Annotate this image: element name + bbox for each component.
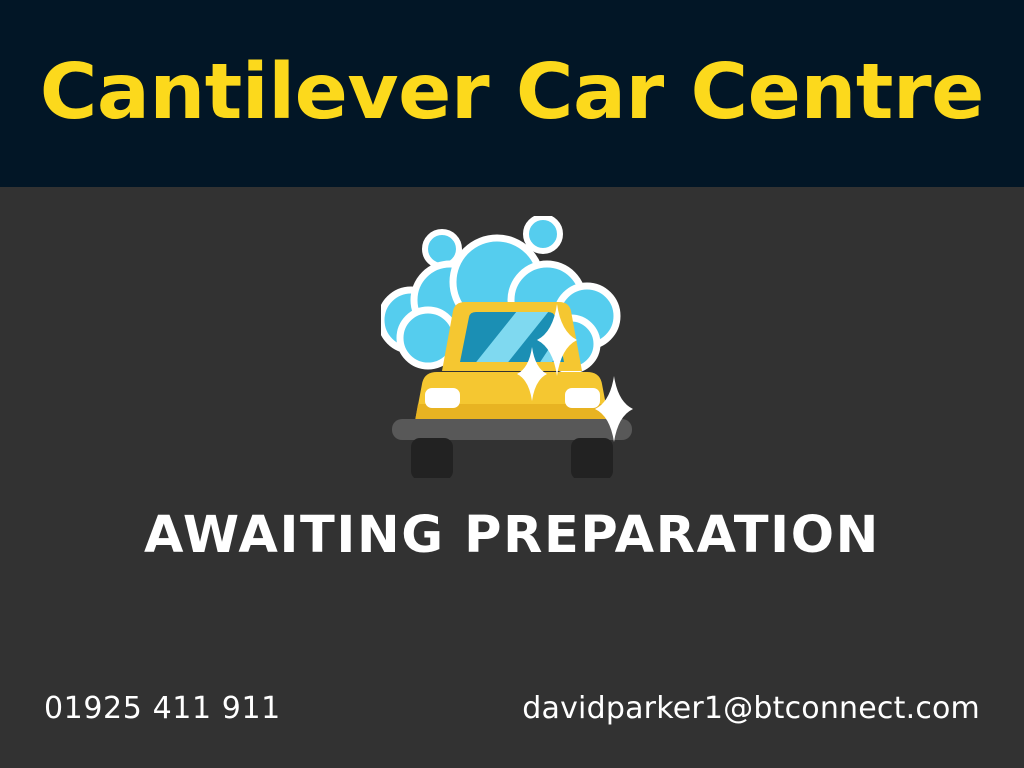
status-line: AWAITING PREPARATION	[0, 505, 1024, 567]
dealer-name-title: Cantilever Car Centre	[40, 54, 984, 131]
dealer-phone-number[interactable]: 01925 411 911	[44, 688, 281, 730]
contact-row: 01925 411 911 davidparker1@btconnect.com	[0, 688, 1024, 734]
status-badge: AWAITING PREPARATION	[144, 505, 880, 567]
vehicle-placeholder-image: Cantilever Car Centre	[0, 0, 1024, 768]
placeholder-body	[0, 187, 1024, 768]
dealer-email-address[interactable]: davidparker1@btconnect.com	[522, 688, 980, 730]
dealer-header-band: Cantilever Car Centre	[0, 0, 1024, 187]
